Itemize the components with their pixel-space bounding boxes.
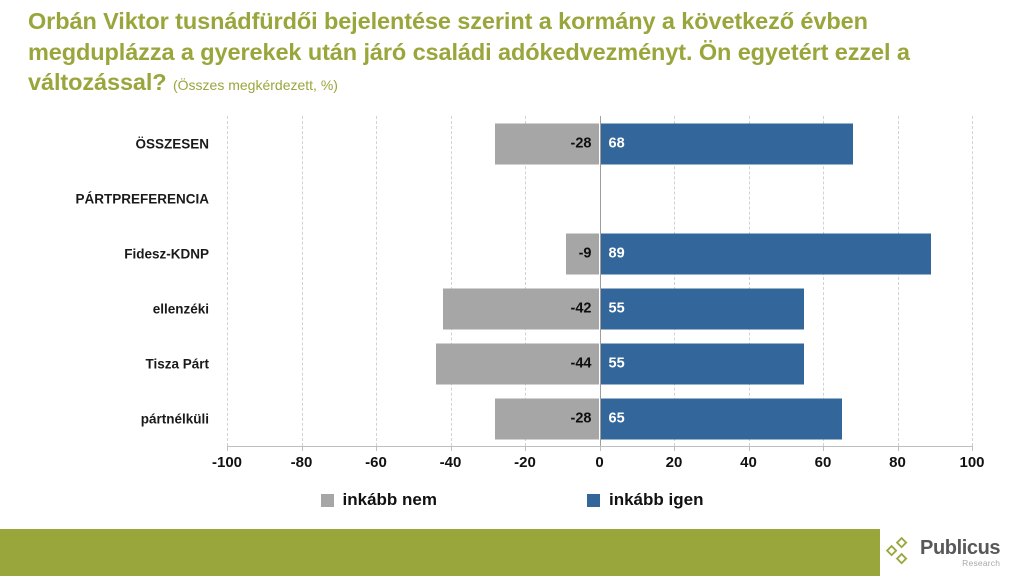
bar-inkabb-igen[interactable]: 55 (600, 343, 805, 384)
x-axis-tick-label: 100 (959, 454, 984, 471)
legend-label: inkább igen (609, 490, 703, 510)
page-title: Orbán Viktor tusnádfürdői bejelentése sz… (28, 6, 978, 98)
x-axis-tick (227, 446, 228, 451)
x-axis-tick-label: 0 (595, 454, 603, 471)
bar-value-label: 55 (600, 356, 625, 371)
x-axis-tick-label: -20 (514, 454, 536, 471)
category-label: PÁRTPREFERENCIA (75, 191, 209, 206)
bar-inkabb-nem[interactable]: -9 (566, 233, 600, 274)
bar-inkabb-igen[interactable]: 89 (600, 233, 932, 274)
bar-value-label: 89 (600, 246, 625, 261)
chart-area: ÖSSZESEN-2868PÁRTPREFERENCIAFidesz-KDNP-… (0, 108, 1024, 520)
x-axis-tick-label: 80 (889, 454, 906, 471)
publicus-diamond-icon (885, 537, 917, 569)
bar-value-label: -44 (571, 356, 600, 371)
brand-logo: Publicus Research (880, 529, 1024, 576)
title-block: Orbán Viktor tusnádfürdői bejelentése sz… (28, 6, 978, 98)
x-axis-tick (823, 446, 824, 451)
x-axis-tick (451, 446, 452, 451)
bar-value-label: 65 (600, 411, 625, 426)
bar-inkabb-igen[interactable]: 55 (600, 288, 805, 329)
x-axis-tick-label: -60 (365, 454, 387, 471)
legend-item[interactable]: inkább nem (321, 490, 437, 510)
bar-value-label: 68 (600, 136, 625, 151)
logo-name: Publicus (920, 538, 1000, 558)
bar-value-label: -28 (571, 411, 600, 426)
x-axis-tick-label: -40 (440, 454, 462, 471)
bar-value-label: -28 (571, 136, 600, 151)
x-axis-tick-label: 60 (815, 454, 832, 471)
bar-inkabb-nem[interactable]: -28 (495, 123, 599, 164)
x-axis-tick (525, 446, 526, 451)
category-label: Tisza Párt (145, 356, 209, 371)
logo-wordmark: Publicus Research (920, 538, 1000, 568)
x-axis-tick-label: 20 (666, 454, 683, 471)
bar-value-label: -42 (571, 301, 600, 316)
x-axis-tick (600, 446, 601, 451)
logo-tagline: Research (920, 559, 1000, 568)
category-label: ellenzéki (153, 301, 209, 316)
x-axis-tick-label: -100 (212, 454, 242, 471)
footer-bar (0, 529, 1024, 576)
x-axis-tick (898, 446, 899, 451)
bar-inkabb-nem[interactable]: -42 (443, 288, 599, 329)
plot-area: ÖSSZESEN-2868PÁRTPREFERENCIAFidesz-KDNP-… (227, 116, 972, 446)
x-axis-tick (972, 446, 973, 451)
x-axis-tick-label: -80 (291, 454, 313, 471)
category-label: pártnélküli (141, 411, 209, 426)
x-axis-tick (749, 446, 750, 451)
x-axis-tick (302, 446, 303, 451)
gridline (972, 116, 973, 446)
zero-axis-line (600, 116, 601, 446)
legend-swatch-icon (587, 494, 600, 507)
chart-legend: inkább neminkább igen (0, 490, 1024, 510)
category-label: Fidesz-KDNP (124, 246, 209, 261)
x-axis-tick-label: 40 (740, 454, 757, 471)
x-axis-tick (376, 446, 377, 451)
x-axis-tick (674, 446, 675, 451)
bar-inkabb-nem[interactable]: -28 (495, 398, 599, 439)
bar-value-label: -9 (579, 246, 600, 261)
bar-inkabb-igen[interactable]: 68 (600, 123, 853, 164)
bar-value-label: 55 (600, 301, 625, 316)
legend-swatch-icon (321, 494, 334, 507)
title-subtitle: (Összes megkérdezett, %) (173, 77, 338, 93)
legend-label: inkább nem (343, 490, 437, 510)
category-label: ÖSSZESEN (135, 136, 209, 151)
bar-inkabb-igen[interactable]: 65 (600, 398, 842, 439)
bar-inkabb-nem[interactable]: -44 (436, 343, 600, 384)
title-main-text: Orbán Viktor tusnádfürdői bejelentése sz… (28, 8, 910, 95)
legend-item[interactable]: inkább igen (587, 490, 703, 510)
